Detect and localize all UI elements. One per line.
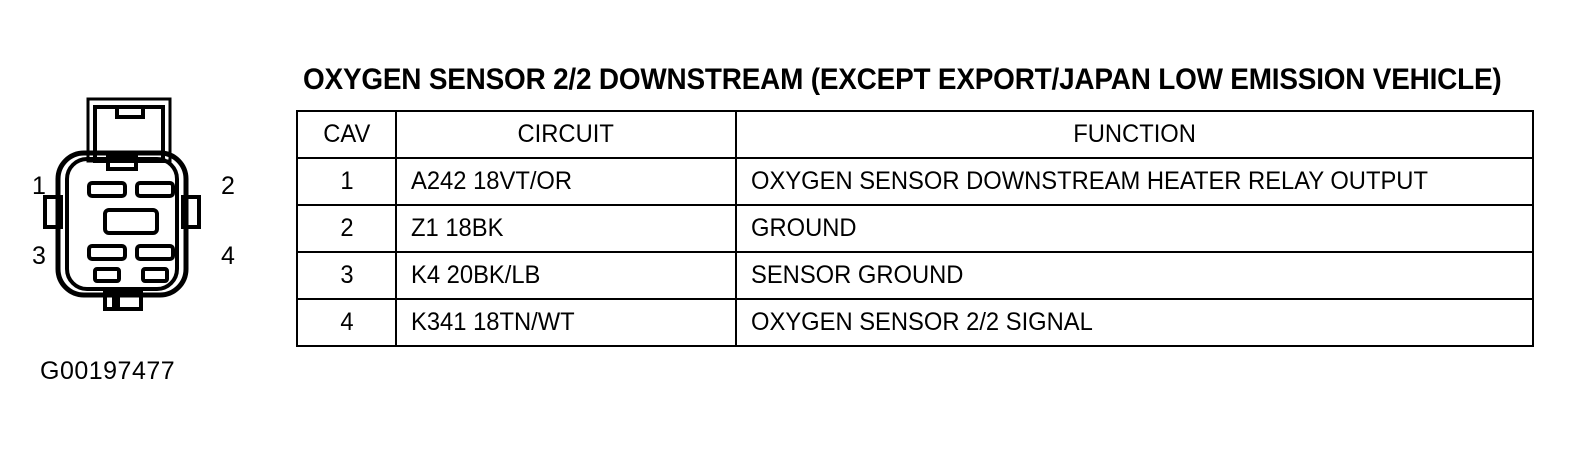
cell-function: GROUND: [736, 205, 1533, 252]
column-header-cav: CAV: [297, 111, 396, 158]
connector-cavity-4: [137, 246, 173, 259]
table-header-row: CAV CIRCUIT FUNCTION: [297, 111, 1533, 158]
connector-center-slot: [105, 210, 157, 233]
cell-cav: 4: [297, 299, 396, 346]
connector-figure: 1 2 3 4 G00197477: [0, 85, 280, 405]
connector-cavity-2: [137, 183, 173, 196]
table-row: 4 K341 18TN/WT OXYGEN SENSOR 2/2 SIGNAL: [297, 299, 1533, 346]
pin-number-4: 4: [221, 244, 235, 269]
cell-function: OXYGEN SENSOR 2/2 SIGNAL: [736, 299, 1533, 346]
pin-number-2: 2: [221, 174, 235, 199]
column-header-function: FUNCTION: [736, 111, 1533, 158]
connector-shroud-notch: [117, 107, 143, 117]
cell-cav: 2: [297, 205, 396, 252]
connector-bottom-tab-detail: [112, 295, 120, 309]
table-title: OXYGEN SENSOR 2/2 DOWNSTREAM (EXCEPT EXP…: [303, 64, 1419, 96]
cell-function: OXYGEN SENSOR DOWNSTREAM HEATER RELAY OU…: [736, 158, 1533, 205]
table-row: 2 Z1 18BK GROUND: [297, 205, 1533, 252]
connector-cavity-1: [89, 183, 125, 196]
table-row: 3 K4 20BK/LB SENSOR GROUND: [297, 252, 1533, 299]
pin-number-1: 1: [32, 174, 46, 199]
cell-cav: 1: [297, 158, 396, 205]
connector-lower-slot-right: [143, 269, 167, 281]
pin-number-3: 3: [32, 244, 46, 269]
connector-lower-slot-left: [95, 269, 119, 281]
cell-cav: 3: [297, 252, 396, 299]
table-row: 1 A242 18VT/OR OXYGEN SENSOR DOWNSTREAM …: [297, 158, 1533, 205]
connector-cavity-3: [89, 246, 125, 259]
cell-circuit: A242 18VT/OR: [396, 158, 736, 205]
cell-function: SENSOR GROUND: [736, 252, 1533, 299]
cell-circuit: K4 20BK/LB: [396, 252, 736, 299]
cell-circuit: K341 18TN/WT: [396, 299, 736, 346]
part-number-caption: G00197477: [40, 357, 175, 386]
cell-circuit: Z1 18BK: [396, 205, 736, 252]
pinout-table: CAV CIRCUIT FUNCTION 1 A242 18VT/OR OXYG…: [296, 110, 1534, 347]
column-header-circuit: CIRCUIT: [396, 111, 736, 158]
